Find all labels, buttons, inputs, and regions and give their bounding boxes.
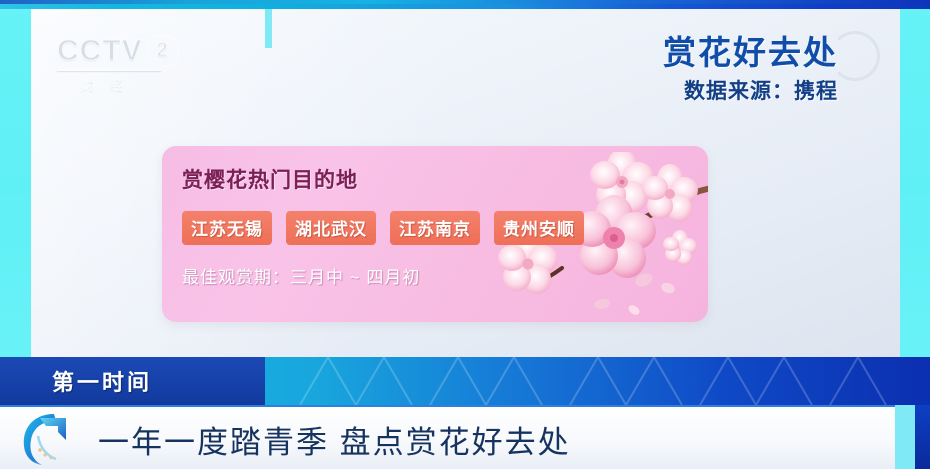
headline-bar: 一年一度踏青季 盘点赏花好去处 xyxy=(0,405,895,469)
cctv-logo-number: 2 xyxy=(147,35,179,67)
program-banner-strip: 第一时间 xyxy=(0,357,930,405)
info-card-title: 赏樱花热门目的地 xyxy=(182,164,708,194)
chevron-pattern xyxy=(270,357,930,405)
destination-tag: 江苏南京 xyxy=(390,211,480,245)
network-swoosh-logo xyxy=(14,406,90,468)
graphic-title-block: 赏花好去处 数据来源：携程 xyxy=(663,33,838,107)
headline-bar-cyan-cap xyxy=(895,405,915,469)
destination-tag: 湖北武汉 xyxy=(286,211,376,245)
cctv-logo-subtitle: 财经 xyxy=(57,75,177,94)
best-viewing-period-note: 最佳观赏期：三月中 ~ 四月初 xyxy=(182,263,708,288)
video-frame: CCTV2 财经 赏花好去处 数据来源：携程 xyxy=(31,9,900,357)
cctv-logo-text: CCTV2 xyxy=(57,35,177,67)
broadcast-screenshot: CCTV2 财经 赏花好去处 数据来源：携程 xyxy=(0,0,930,469)
info-card: 赏樱花热门目的地 江苏无锡 湖北武汉 江苏南京 贵州安顺 最佳观赏期：三月中 ~… xyxy=(162,146,708,322)
graphic-data-source: 数据来源：携程 xyxy=(663,77,838,107)
destination-tag: 江苏无锡 xyxy=(182,211,272,245)
info-card-content: 赏樱花热门目的地 江苏无锡 湖北武汉 江苏南京 贵州安顺 最佳观赏期：三月中 ~… xyxy=(162,146,708,288)
headline-bar-blue-cap xyxy=(915,405,930,469)
destination-tag: 贵州安顺 xyxy=(494,211,584,245)
program-name-tab: 第一时间 xyxy=(0,357,265,405)
cctv-logo-underline xyxy=(57,69,161,71)
graphic-title: 赏花好去处 xyxy=(663,33,838,73)
destination-tag-list: 江苏无锡 湖北武汉 江苏南京 贵州安顺 xyxy=(182,211,708,245)
program-name-label: 第一时间 xyxy=(52,365,152,397)
top-gradient-strip xyxy=(0,0,930,9)
headline-text: 一年一度踏青季 盘点赏花好去处 xyxy=(98,417,571,462)
top-gradient-strip-inner xyxy=(0,0,930,4)
cctv-channel-logo: CCTV2 财经 xyxy=(57,35,177,97)
